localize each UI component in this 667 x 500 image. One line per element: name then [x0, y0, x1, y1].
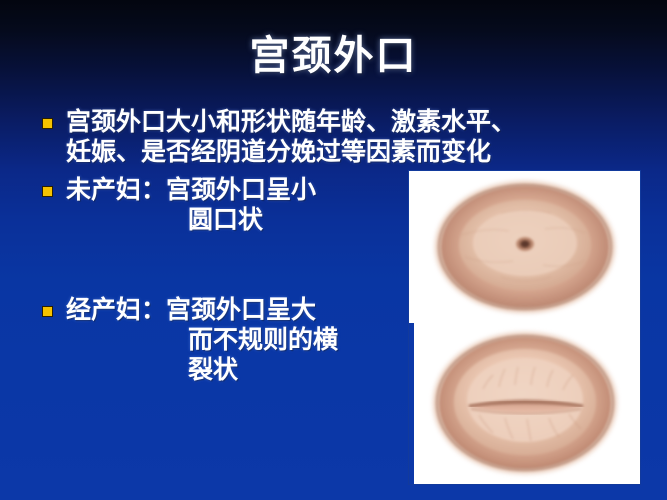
bullet-3-line-3: 裂状: [66, 356, 338, 386]
bullet-3-line-1: 经产妇：宫颈外口呈大: [66, 296, 338, 326]
bullet-item-1-text: 宫颈外口大小和形状随年龄、激素水平、 妊娠、是否经阴道分娩过等因素而变化: [66, 108, 516, 168]
bullet-item-2-text: 未产妇：宫颈外口呈小 圆口状: [66, 176, 316, 236]
parous-cervix-photo: [409, 323, 640, 483]
nulliparous-cervix-photo: [409, 173, 640, 323]
figure-panel: [409, 171, 640, 484]
square-bullet-icon: [42, 186, 53, 197]
bullet-2-line-1: 未产妇：宫颈外口呈小: [66, 176, 316, 206]
square-bullet-icon: [42, 118, 53, 129]
page-title: 宫颈外口: [0, 32, 667, 80]
square-bullet-icon: [42, 306, 53, 317]
bullet-item-3-text: 经产妇：宫颈外口呈大 而不规则的横 裂状: [66, 296, 338, 386]
nulliparous-cervix-illustration: [409, 173, 640, 323]
bullet-1-line-1: 宫颈外口大小和形状随年龄、激素水平、: [66, 108, 516, 138]
panel-left-notch: [409, 323, 414, 484]
bullet-3-line-2: 而不规则的横: [66, 326, 338, 356]
slide: 宫颈外口 宫颈外口大小和形状随年龄、激素水平、 妊娠、是否经阴道分娩过等因素而变…: [0, 0, 667, 500]
bullet-1-line-2: 妊娠、是否经阴道分娩过等因素而变化: [66, 138, 516, 168]
parous-cervix-illustration: [409, 323, 640, 483]
bullet-2-line-2: 圆口状: [66, 206, 316, 236]
